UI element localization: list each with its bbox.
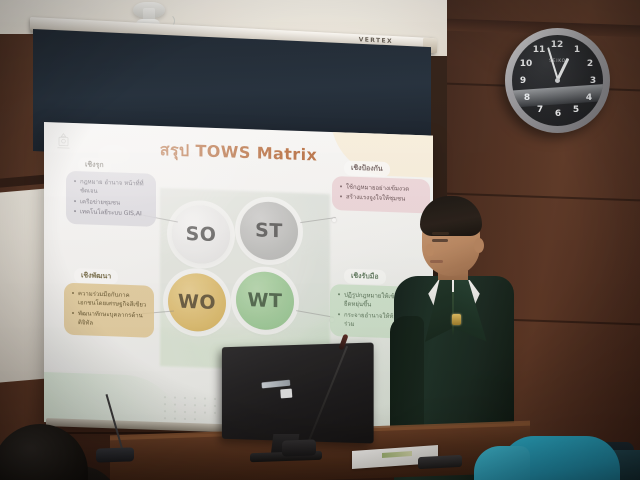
- bullet-box-so: กฎหมาย อำนาจ หน้าที่ที่ชัดเจน เครือข่ายช…: [66, 171, 156, 227]
- clock-numeral: 2: [583, 59, 597, 69]
- clock-glass-glare: [512, 83, 603, 108]
- clock-numeral: 5: [569, 105, 583, 115]
- presenter-nose: [426, 244, 434, 256]
- presenter-monitor[interactable]: [222, 342, 374, 443]
- clock-numeral: 12: [550, 40, 564, 50]
- presenter-ear: [474, 238, 484, 253]
- bullet-item: ความร่วมมือกับภาคเอกชนโดยเศรษฐกิจสีเขียว: [78, 289, 147, 310]
- presenter-eye: [432, 239, 448, 242]
- presenter-mouth: [430, 260, 443, 263]
- wall-clock: SEIKO 12 1 2 3 4 5 6 7 8 9 10 11: [505, 28, 610, 133]
- monitor-sticker-secondary: [280, 389, 292, 399]
- clock-center-pin: [555, 78, 560, 83]
- chair-armrest: [474, 446, 530, 480]
- quadrant-label-st: เชิงป้องกัน: [344, 160, 390, 177]
- remote-control[interactable]: [418, 455, 462, 469]
- clock-numeral: 10: [519, 59, 533, 69]
- clock-numeral: 6: [551, 109, 565, 119]
- gold-lapel-pin-icon: [452, 314, 461, 325]
- quadrant-label-wo: เชิงพัฒนา: [74, 268, 118, 285]
- bullet-box-wo: ความร่วมมือกับภาคเอกชนโดยเศรษฐกิจสีเขียว…: [64, 283, 154, 338]
- clock-face: SEIKO 12 1 2 3 4 5 6 7 8 9 10 11: [512, 35, 603, 126]
- microphone-base: [282, 439, 316, 456]
- presenter-hair: [420, 196, 482, 236]
- clock-numeral: 9: [516, 76, 530, 86]
- clock-numeral: 7: [533, 105, 547, 115]
- presenter-eyebrow: [432, 232, 449, 235]
- bullet-item: เทคโนโลยีระบบ GIS,AI: [80, 207, 149, 219]
- clock-numeral: 1: [570, 45, 584, 55]
- clock-numeral: 11: [532, 45, 546, 55]
- monitor-sticker: [262, 380, 291, 389]
- quadrant-label-wt: เชิงรับมือ: [344, 268, 386, 284]
- connector-node: [332, 218, 336, 222]
- bullet-item: พัฒนาทักษะบุคลากรด้านดิจิทัล: [78, 309, 147, 330]
- bullet-item: กฎหมาย อำนาจ หน้าที่ที่ชัดเจน: [80, 177, 149, 198]
- conference-room-photo: VERTEX สรุป TOWS Matrix: [0, 0, 640, 480]
- microphone-base-secondary: [96, 447, 134, 462]
